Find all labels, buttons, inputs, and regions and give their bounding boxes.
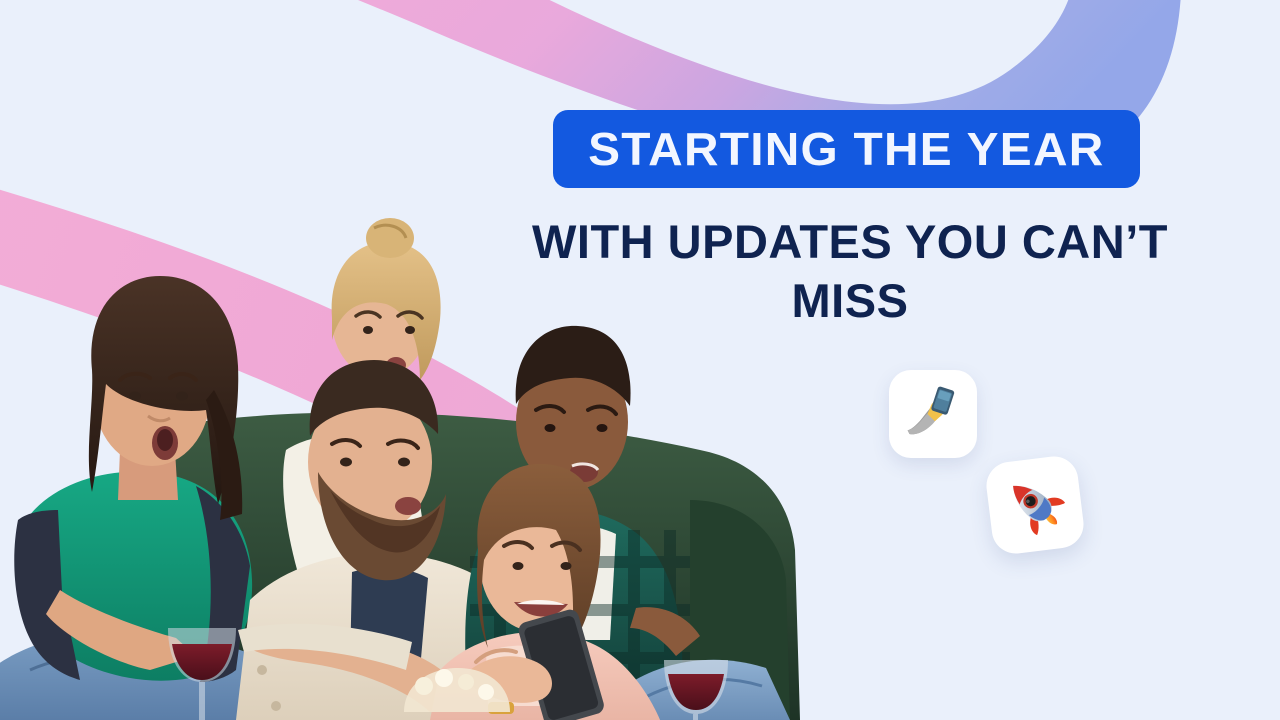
promo-banner: STARTING THE YEAR WITH UPDATES YOU CAN’T…	[0, 0, 1280, 720]
subheadline-line-2: MISS	[470, 271, 1230, 330]
rocket-emoji-icon	[1000, 470, 1069, 539]
person-blonde-bun	[366, 218, 414, 258]
headline-pill: STARTING THE YEAR	[553, 110, 1140, 188]
subheadline-line-1: WITH UPDATES YOU CAN’T	[470, 212, 1230, 271]
rocket-badge	[984, 454, 1087, 557]
headline-pill-label: STARTING THE YEAR	[588, 126, 1104, 172]
subheadline: WITH UPDATES YOU CAN’T MISS	[470, 212, 1230, 330]
selfie-emoji-icon	[904, 385, 962, 443]
selfie-badge	[889, 370, 977, 458]
